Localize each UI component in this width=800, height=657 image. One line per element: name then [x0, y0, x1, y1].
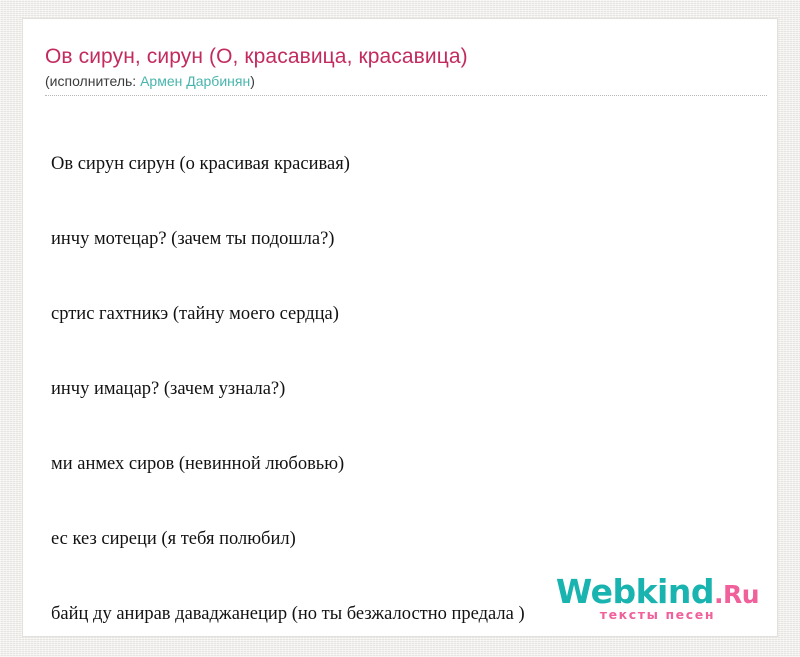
performer-line: (исполнитель: Армен Дарбинян) — [45, 73, 255, 89]
lyric-line: сртис гахтникэ (тайну моего сердца) — [51, 302, 773, 327]
content-panel: Ов сирун, сирун (О, красавица, красавица… — [22, 18, 778, 637]
performer-prefix-label: (исполнитель: — [45, 73, 140, 89]
lyric-line: инчу имацар? (зачем узнала?) — [51, 377, 773, 402]
lyric-line: Ов сирун сирун (о красивая красивая) — [51, 152, 773, 177]
lyric-line: инчу мотецар? (зачем ты подошла?) — [51, 227, 773, 252]
logo-tld-text: .Ru — [714, 580, 759, 609]
performer-suffix-label: ) — [250, 73, 255, 89]
logo-main-text: Webkind — [556, 572, 714, 611]
site-logo[interactable]: Webkind.Ru тексты песен — [556, 575, 759, 622]
lyric-line: ми анмех сиров (невинной любовью) — [51, 452, 773, 477]
lyric-line: ес кез сиреци (я тебя полюбил) — [51, 527, 773, 552]
page-title: Ов сирун, сирун (О, красавица, красавица… — [45, 45, 468, 69]
lyrics-text: Ов сирун сирун (о красивая красивая) инч… — [51, 102, 773, 637]
title-divider — [45, 95, 767, 96]
performer-link[interactable]: Армен Дарбинян — [140, 73, 250, 89]
